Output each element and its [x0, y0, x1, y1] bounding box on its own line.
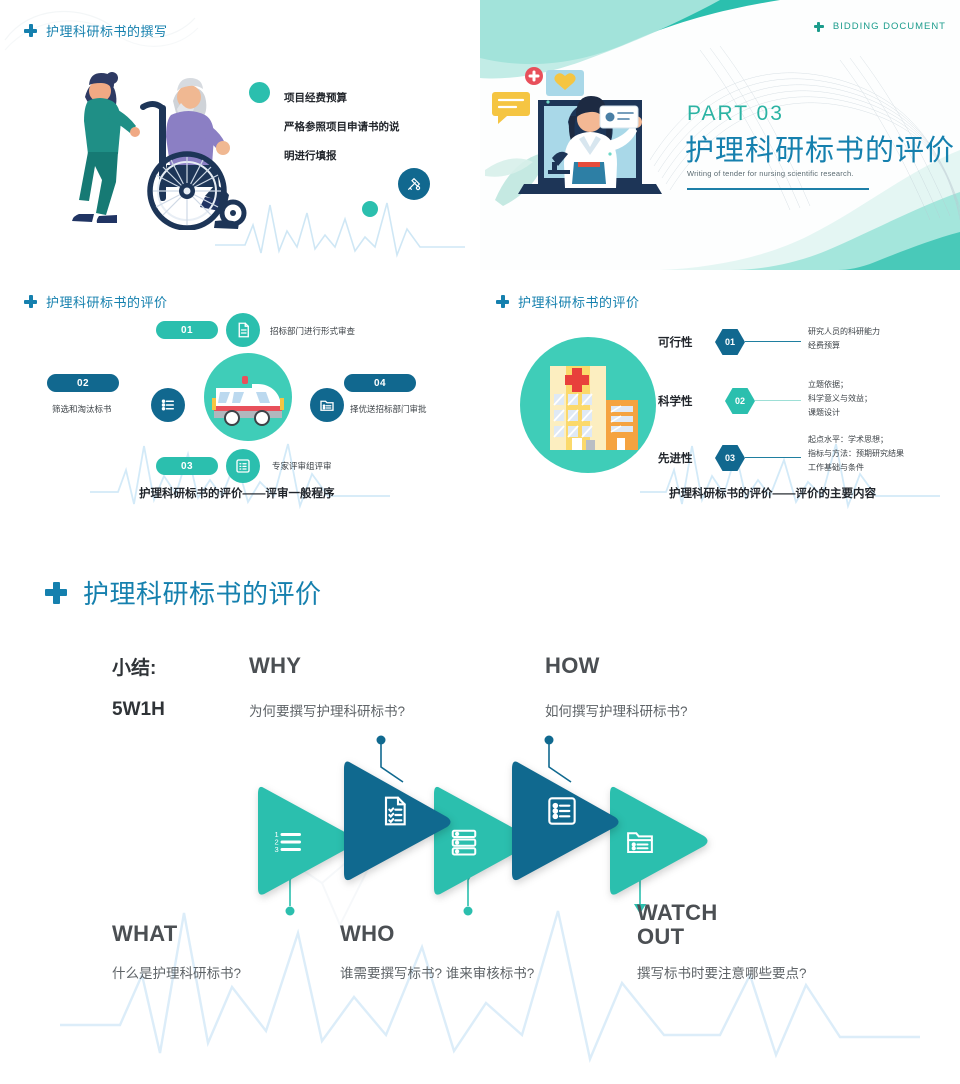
list-icon [546, 795, 578, 827]
question-who: 谁需要撰写标书? 谁来审核标书? [340, 962, 534, 982]
slide1-body-text: 项目经费预算 严格参照项目申请书的说 明进行填报 [284, 92, 464, 179]
step-pill-03: 03 [156, 457, 218, 475]
step-label-02: 筛选和淘汰标书 [52, 403, 112, 415]
nurse-pushing-wheelchair-illustration [55, 45, 270, 230]
section-title: 护理科研标书的评价 [46, 292, 168, 311]
question-why: 为何要撰写护理科研标书? [249, 700, 405, 720]
hex-label-01: 可行性 [658, 334, 693, 350]
numbered-list-icon: 1 2 3 [272, 827, 302, 857]
hex-detail-02-3: 课题设计 [808, 407, 840, 419]
decor-dot-teal-large [249, 82, 270, 103]
hex-connector-01 [745, 341, 801, 342]
plus-icon [24, 295, 37, 308]
key-who: WHO [340, 921, 395, 947]
svg-text:3: 3 [275, 845, 279, 854]
topbar-header: BIDDING DOCUMENT [814, 21, 946, 32]
question-how: 如何撰写护理科研标书? [545, 700, 688, 720]
arrow-watch-out [608, 782, 710, 900]
plus-icon [814, 22, 824, 32]
hex-badge-03: 03 [715, 445, 745, 471]
server-list-icon [449, 827, 479, 857]
body-line-3: 明进行填报 [284, 150, 464, 163]
part-subtitle: Writing of tender for nursing scientific… [687, 169, 854, 178]
slide4-footer-caption: 护理科研标书的评价——评价的主要内容 [669, 485, 876, 501]
key-what: WHAT [112, 921, 178, 947]
summary-label-line2: 5W1H [112, 699, 165, 721]
hex-label-03: 先进性 [658, 450, 693, 466]
key-how: HOW [545, 653, 600, 679]
key-watch-out: WATCH OUT [637, 901, 757, 949]
hex-detail-02-2: 科学意义与效益； [808, 393, 872, 405]
section-header: 护理科研标书的评价 [496, 292, 640, 311]
topbar-label: BIDDING DOCUMENT [833, 21, 946, 32]
slide-writing-of-tender: 护理科研标书的撰写 [0, 0, 480, 270]
slide-evaluation-content: 护理科研标书的评价 [480, 280, 960, 520]
hospital-building-icon [542, 360, 644, 452]
key-why: WHY [249, 653, 301, 679]
summary-label-line1: 小结: [112, 653, 156, 680]
step-pill-02: 02 [47, 374, 119, 392]
hex-detail-02-1: 立题依据； [808, 379, 848, 391]
step-label-01: 招标部门进行形式审查 [270, 325, 355, 337]
part-divider [687, 188, 869, 190]
section-title: 护理科研标书的评价 [518, 292, 640, 311]
section-title: 护理科研标书的撰写 [46, 21, 168, 40]
step-pill-01: 01 [156, 321, 218, 339]
list-icon [151, 388, 185, 422]
hex-detail-03-3: 工作基础与条件 [808, 462, 864, 474]
body-line-1: 项目经费预算 [284, 92, 464, 105]
slide3-footer-caption: 护理科研标书的评价——评审一般程序 [139, 485, 335, 501]
plus-icon [24, 24, 37, 37]
section-title: 护理科研标书的评价 [83, 574, 322, 611]
decor-dot-teal-small [362, 201, 378, 217]
part-title: 护理科研标书的评价 [685, 127, 955, 169]
folder-list-icon [310, 388, 344, 422]
hex-badge-02: 02 [725, 388, 755, 414]
hex-badge-01: 01 [715, 329, 745, 355]
document-check-icon [226, 313, 260, 347]
folder-list-icon [625, 827, 655, 857]
hex-detail-03-2: 指标与方法：预期研究结果 [808, 448, 904, 460]
checklist-icon [226, 449, 260, 483]
step-label-04: 择优送招标部门审批 [350, 403, 427, 415]
section-header: 护理科研标书的评价 [45, 574, 322, 611]
plus-icon [45, 582, 67, 604]
question-watch-out: 撰写标书时要注意哪些要点? [637, 962, 807, 982]
section-header: 护理科研标书的撰写 [24, 21, 168, 40]
hex-connector-02 [755, 400, 801, 401]
part-label: PART 03 [687, 102, 784, 126]
hex-detail-01-1: 研究人员的科研能力 [808, 326, 880, 338]
hex-connector-03 [745, 457, 801, 458]
ambulance-icon [212, 376, 286, 426]
document-check-icon [378, 795, 410, 827]
slide-review-procedure: 护理科研标书的评价 01 招标部门进行形式审查 [0, 280, 480, 520]
slide-deck-page: 护理科研标书的撰写 [0, 0, 960, 1084]
section-header: 护理科研标书的评价 [24, 292, 168, 311]
female-doctor-laptop-illustration [490, 62, 680, 207]
hex-detail-01-2: 经费预算 [808, 340, 840, 352]
body-line-2: 严格参照项目申请书的说 [284, 121, 464, 134]
hex-detail-03-1: 起点水平：学术思想； [808, 434, 888, 446]
step-label-03: 专家评审组评审 [272, 460, 332, 472]
question-what: 什么是护理科研标书? [112, 962, 241, 982]
step-pill-04: 04 [344, 374, 416, 392]
hex-label-02: 科学性 [658, 393, 693, 409]
plus-icon [496, 295, 509, 308]
slide-part-03-cover: BIDDING DOCUMENT [480, 0, 960, 270]
